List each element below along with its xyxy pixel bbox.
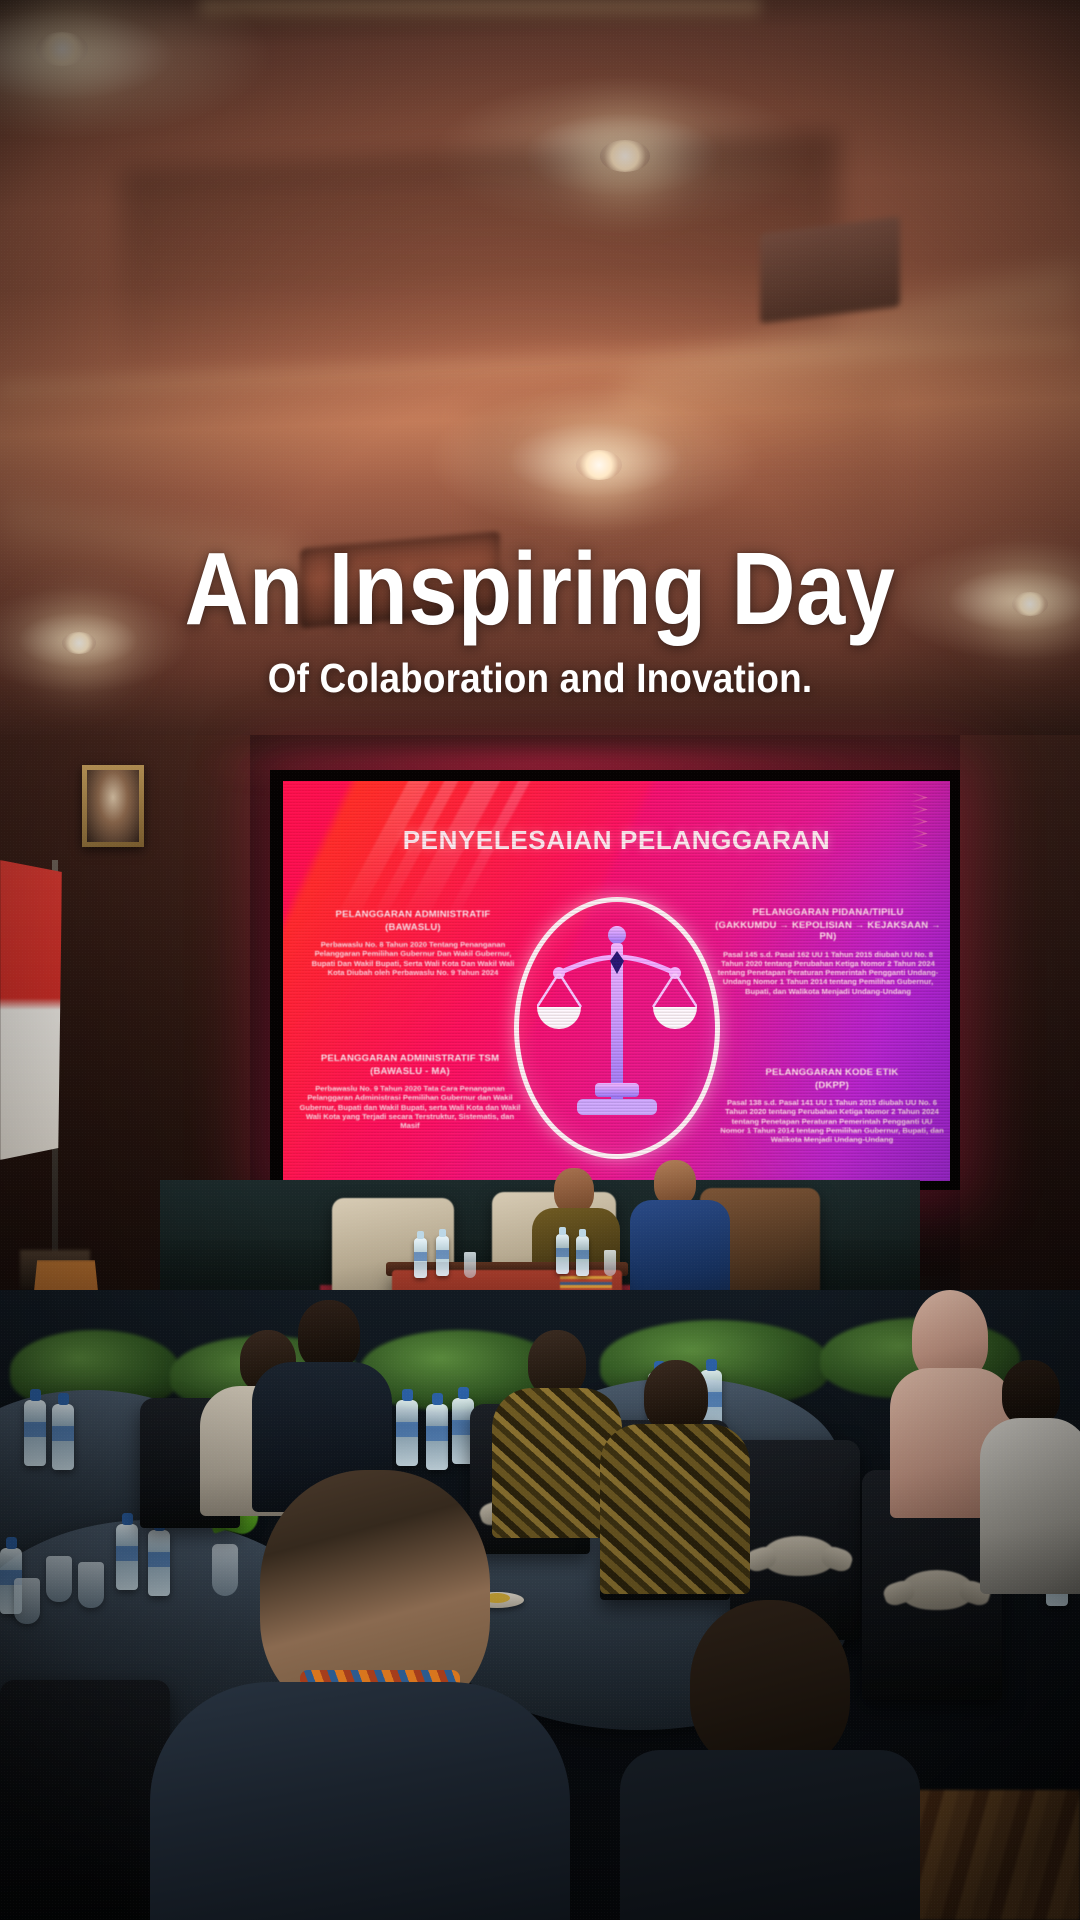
drinking-glass [78, 1562, 104, 1608]
water-bottle [426, 1404, 448, 1470]
slide-text-block: PELANGGARAN KODE ETIK (DKPP) Pasal 138 s… [719, 1067, 945, 1144]
water-bottle [436, 1236, 449, 1276]
slide-block-body: Perbawaslu No. 9 Tahun 2020 Tata Cara Pe… [297, 1084, 523, 1130]
ceiling-coffer [120, 131, 840, 369]
attendee-torso [620, 1750, 920, 1920]
attendee-head [644, 1360, 708, 1432]
attendee-foreground [620, 1600, 920, 1920]
led-screen: PENYELESAIAN PELANGGARAN PELANGGARAN ADM… [283, 781, 950, 1181]
slide-block-subheading: (DKPP) [719, 1080, 945, 1092]
overlay-title: An Inspiring Day [76, 540, 1005, 639]
attendee-head [1002, 1360, 1060, 1426]
photo-canvas: PENYELESAIAN PELANGGARAN PELANGGARAN ADM… [0, 0, 1080, 1920]
slide-block-heading: PELANGGARAN KODE ETIK [719, 1067, 945, 1079]
slide-block-body: Pasal 138 s.d. Pasal 141 UU 1 Tahun 2015… [719, 1098, 945, 1144]
water-bottle [52, 1404, 74, 1470]
slide-text-block: PELANGGARAN ADMINISTRATIF (BAWASLU) Perb… [307, 909, 519, 977]
water-bottle [24, 1400, 46, 1466]
slide-block-subheading: (BAWASLU - MA) [297, 1066, 523, 1078]
ceiling-ac-vent [760, 216, 900, 323]
slide-block-subheading: (BAWASLU) [307, 922, 519, 934]
drinking-glass [14, 1578, 40, 1624]
attendee-head [528, 1330, 586, 1396]
scales-of-justice-icon [537, 923, 697, 1128]
attendee-torso [600, 1424, 750, 1594]
slide-block-heading: PELANGGARAN ADMINISTRATIF [307, 909, 519, 921]
drinking-glass [46, 1556, 72, 1602]
attendee [600, 1360, 750, 1590]
title-overlay: An Inspiring Day Of Colaboration and Ino… [0, 540, 1080, 702]
slide-block-subheading: (GAKKUMDU → KEPOLISIAN → KEJAKSAAN → PN) [713, 920, 943, 943]
ceiling-downlight [600, 140, 650, 172]
indonesian-flag [0, 860, 62, 1160]
water-bottle [576, 1236, 589, 1276]
drinking-glass [464, 1252, 476, 1278]
ceiling-cove-light [200, 0, 760, 26]
drinking-glass [604, 1250, 616, 1276]
slide-block-heading: PELANGGARAN PIDANA/TIPILU [713, 907, 943, 919]
framed-portrait [82, 765, 144, 847]
slide-text-block: PELANGGARAN ADMINISTRATIF TSM (BAWASLU -… [297, 1053, 523, 1130]
attendee [980, 1360, 1080, 1590]
banquet-chair [0, 1680, 170, 1920]
attendee-torso [980, 1418, 1080, 1594]
ceiling-downlight [576, 450, 622, 480]
overlay-subtitle: Of Colaboration and Inovation. [54, 655, 1026, 702]
water-bottle [116, 1524, 138, 1590]
side-wall-right [960, 735, 1080, 1355]
attendee-head [298, 1300, 360, 1370]
attendee-torso [150, 1682, 570, 1920]
chair-sash [762, 1536, 836, 1576]
water-bottle [396, 1400, 418, 1466]
slide-block-body: Perbawaslu No. 8 Tahun 2020 Tentang Pena… [307, 940, 519, 977]
water-bottle [414, 1238, 427, 1278]
attendee-head [690, 1600, 850, 1770]
slide-text-block: PELANGGARAN PIDANA/TIPILU (GAKKUMDU → KE… [713, 907, 943, 996]
attendee-foreground [150, 1470, 570, 1920]
slide-block-heading: PELANGGARAN ADMINISTRATIF TSM [297, 1053, 523, 1065]
slide-title: PENYELESAIAN PELANGGARAN [283, 825, 950, 856]
slide-block-body: Pasal 145 s.d. Pasal 162 UU 1 Tahun 2015… [713, 950, 943, 996]
water-bottle [556, 1234, 569, 1274]
ceiling-downlight [36, 32, 88, 66]
